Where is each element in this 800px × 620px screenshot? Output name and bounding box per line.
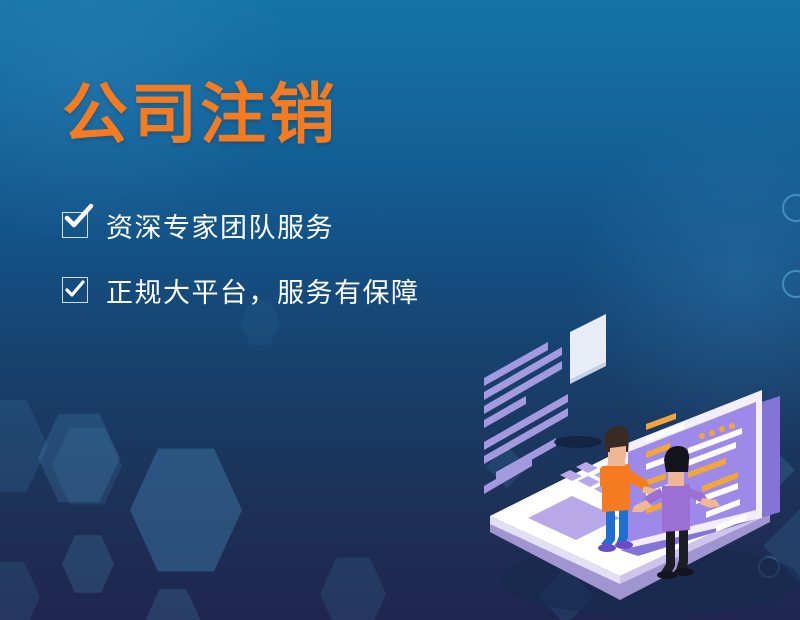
decor-lines-icon — [484, 342, 568, 494]
hexagon-shape — [0, 398, 48, 494]
circle-outline-icon — [782, 270, 800, 298]
isometric-laptop-illustration — [470, 300, 800, 620]
hexagon-shape — [0, 560, 40, 620]
hexagon-shape — [130, 446, 242, 574]
list-item-label: 正规大平台，服务有保障 — [106, 271, 420, 310]
feature-list: 资深专家团队服务 正规大平台，服务有保障 — [62, 206, 420, 310]
hexagon-shape — [320, 556, 386, 620]
decor-shadow — [554, 436, 602, 448]
hexagon-shape — [38, 412, 120, 504]
floating-card-icon — [570, 314, 606, 380]
text-content: 公司注销 资深专家团队服务 正规大平台，服务有保障 — [62, 78, 420, 336]
hexagon-shape — [62, 534, 114, 594]
promo-banner: 公司注销 资深专家团队服务 正规大平台，服务有保障 — [0, 0, 800, 620]
list-item: 资深专家团队服务 — [62, 206, 420, 245]
circle-outline-icon — [782, 194, 800, 222]
hexagon-shape — [52, 426, 122, 506]
list-item-label: 资深专家团队服务 — [106, 206, 334, 245]
hexagon-shape — [146, 588, 200, 620]
page-title: 公司注销 — [62, 78, 420, 152]
list-item: 正规大平台，服务有保障 — [62, 271, 420, 310]
checkbox-checked-icon — [62, 277, 88, 303]
checkbox-checked-icon — [62, 212, 88, 238]
